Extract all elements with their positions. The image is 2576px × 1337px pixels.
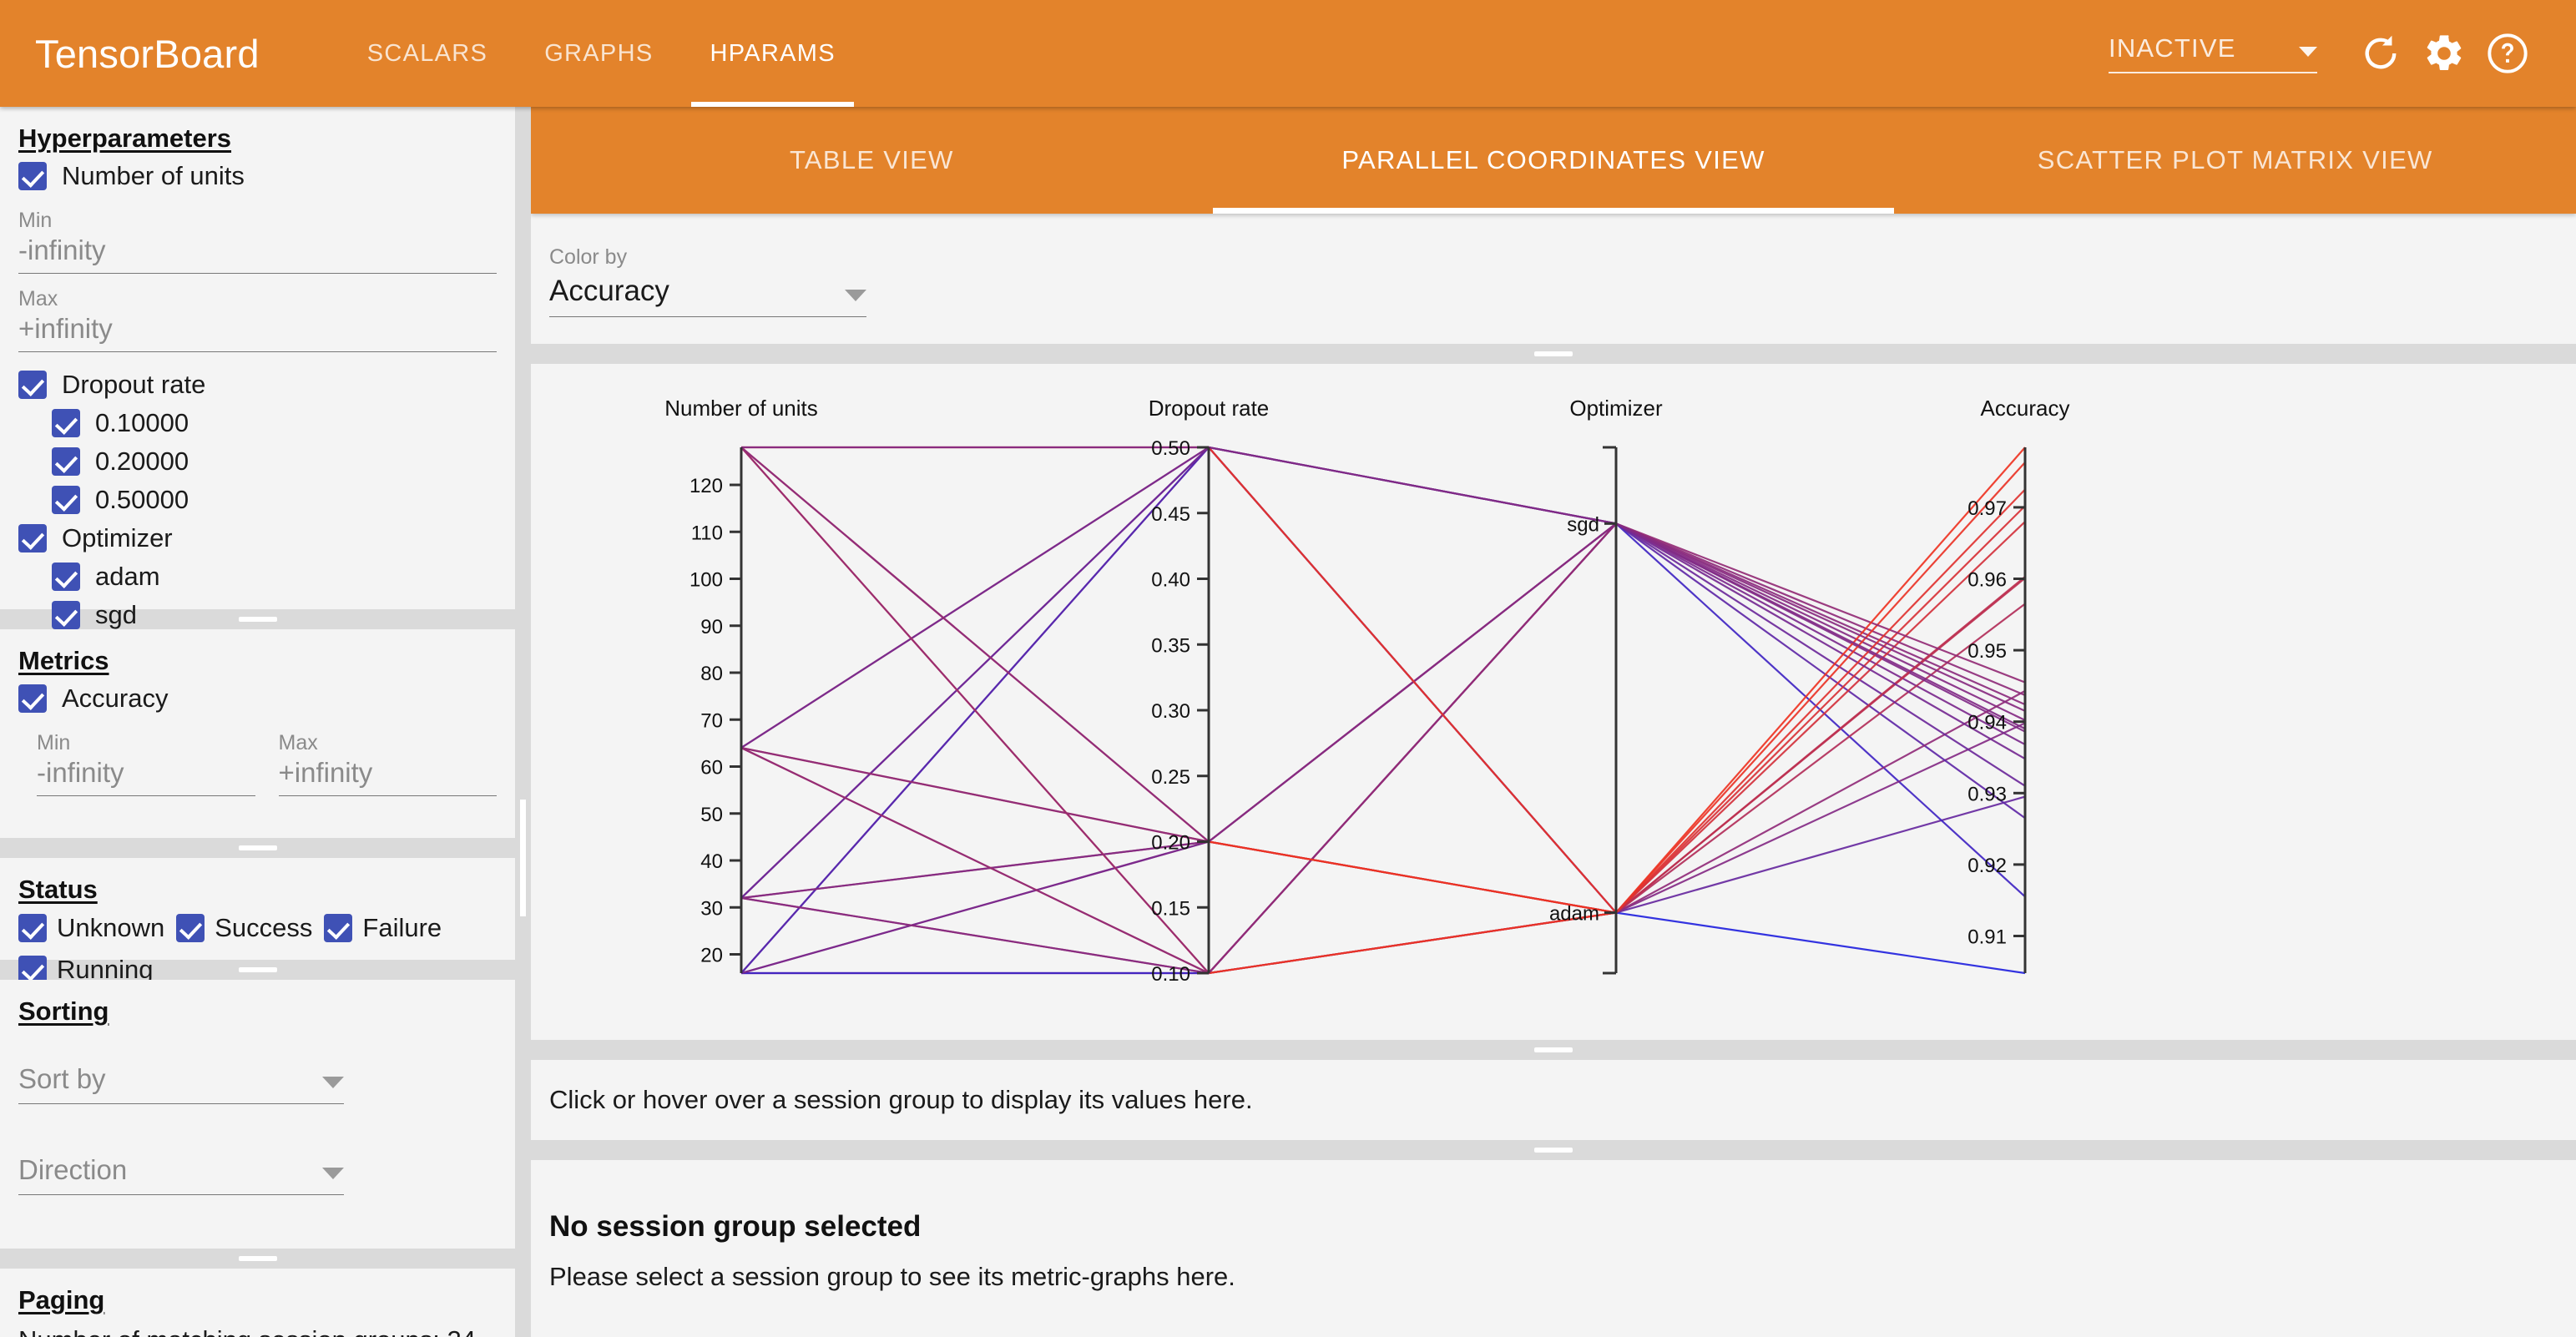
checkbox-checked-icon[interactable] — [52, 486, 80, 514]
view-tab-label: SCATTER PLOT MATRIX VIEW — [2038, 145, 2433, 175]
hyperparameters-card: Hyperparameters Number of units Min -inf… — [0, 107, 515, 609]
header-actions: INACTIVE — [2109, 22, 2576, 85]
checkbox-checked-icon[interactable] — [52, 601, 80, 629]
axis-tick-label: 120 — [689, 475, 723, 497]
accuracy-min-field[interactable]: Min -infinity — [37, 731, 255, 796]
axis-tick-label: 30 — [700, 897, 723, 920]
grip-bar — [239, 1256, 277, 1261]
checkbox-checked-icon[interactable] — [18, 524, 47, 552]
session-line[interactable] — [741, 603, 2025, 973]
grip-bar — [1534, 351, 1573, 356]
grip-bar — [1534, 1047, 1573, 1052]
view-tab-label: PARALLEL COORDINATES VIEW — [1341, 145, 1765, 175]
accuracy-max-input[interactable]: +infinity — [279, 757, 498, 796]
checkbox-checked-icon[interactable] — [52, 409, 80, 437]
dropout-value-010[interactable]: 0.10000 — [18, 404, 497, 442]
axis-tick-label: 0.93 — [1967, 783, 2007, 805]
axis-tick-label: 0.40 — [1151, 569, 1190, 592]
color-by-control: Color by Accuracy — [531, 214, 2576, 344]
checkbox-checked-icon[interactable] — [52, 563, 80, 591]
hparam-optimizer[interactable]: Optimizer — [18, 519, 497, 558]
sort-by-placeholder: Sort by — [18, 1063, 106, 1095]
optimizer-value-label: adam — [95, 562, 160, 592]
optimizer-value-adam[interactable]: adam — [18, 558, 497, 596]
axis-tick-label: 0.45 — [1151, 503, 1190, 526]
axis-tick-label: 70 — [700, 709, 723, 732]
axis-tick-label: 0.20 — [1151, 832, 1190, 855]
chevron-down-icon — [322, 1168, 344, 1179]
sorting-title: Sorting — [18, 980, 497, 1030]
axis-dropout-rate[interactable]: Dropout rate0.100.150.200.250.300.350.40… — [1149, 396, 1270, 986]
axis-tick-label: 0.95 — [1967, 640, 2007, 663]
panel-resize-handle[interactable] — [0, 838, 515, 858]
hover-hint-text: Click or hover over a session group to d… — [549, 1085, 2558, 1115]
units-min-label: Min — [18, 209, 497, 233]
nav-tab-label: SCALARS — [367, 40, 488, 68]
nav-tab-label: GRAPHS — [544, 40, 653, 68]
parallel-coordinates-chart[interactable]: Number of units2030405060708090100110120… — [531, 364, 2576, 1040]
session-line[interactable] — [741, 447, 2025, 973]
chevron-down-icon — [322, 1077, 344, 1088]
hparam-number-of-units[interactable]: Number of units — [18, 157, 497, 195]
axis-title: Accuracy — [1981, 396, 2070, 421]
axis-tick-label: 90 — [700, 616, 723, 638]
hparam-dropout-rate[interactable]: Dropout rate — [18, 366, 497, 404]
metrics-card: Metrics Accuracy Min -infinity Max +infi… — [0, 629, 515, 838]
grip-bar — [1534, 1148, 1573, 1153]
status-unknown[interactable]: Unknown — [18, 911, 164, 945]
hyperparameters-title: Hyperparameters — [18, 107, 497, 157]
parallel-coordinates-svg[interactable]: Number of units2030405060708090100110120… — [531, 364, 2576, 1040]
metric-accuracy[interactable]: Accuracy — [18, 679, 497, 718]
tab-table-view[interactable]: TABLE VIEW — [531, 107, 1213, 214]
tab-scatter-plot-matrix-view[interactable]: SCATTER PLOT MATRIX VIEW — [1894, 107, 2576, 214]
checkbox-checked-icon[interactable] — [52, 447, 80, 476]
direction-placeholder: Direction — [18, 1154, 127, 1186]
axis-tick-label: 0.25 — [1151, 766, 1190, 789]
session-lines-group — [741, 447, 2025, 973]
chevron-down-icon — [2299, 47, 2317, 57]
checkbox-checked-icon[interactable] — [324, 914, 352, 942]
metric-graphs-panel: No session group selected Please select … — [531, 1160, 2576, 1337]
view-tabs: TABLE VIEW PARALLEL COORDINATES VIEW SCA… — [531, 107, 2576, 214]
help-icon[interactable] — [2476, 22, 2539, 85]
checkbox-checked-icon[interactable] — [18, 162, 47, 190]
units-max-field[interactable]: Max +infinity — [18, 287, 497, 352]
optimizer-value-label: sgd — [95, 600, 137, 630]
units-max-input[interactable]: +infinity — [18, 313, 497, 352]
accuracy-min-label: Min — [37, 731, 255, 755]
nav-tab-graphs[interactable]: GRAPHS — [516, 0, 681, 107]
axis-tick-label: 0.50 — [1151, 437, 1190, 460]
axis-tick-label: 0.35 — [1151, 634, 1190, 657]
app-brand: TensorBoard — [35, 31, 260, 77]
session-line[interactable] — [741, 447, 2025, 729]
status-label: Success — [215, 913, 312, 943]
axis-tick-label: 20 — [700, 945, 723, 967]
metric-panel-body: Please select a session group to see its… — [549, 1262, 2558, 1292]
chevron-down-icon — [845, 290, 866, 301]
checkbox-checked-icon[interactable] — [18, 684, 47, 713]
nav-tab-scalars[interactable]: SCALARS — [339, 0, 517, 107]
axis-tick-label: 0.30 — [1151, 700, 1190, 723]
accuracy-min-input[interactable]: -infinity — [37, 757, 255, 796]
session-line[interactable] — [741, 447, 2025, 973]
accuracy-max-label: Max — [279, 731, 498, 755]
app-header: TensorBoard SCALARS GRAPHS HPARAMS INACT… — [0, 0, 2576, 107]
axis-title: Number of units — [664, 396, 818, 421]
axis-tick-label: 0.94 — [1967, 712, 2007, 734]
dropout-value-label: 0.20000 — [95, 447, 189, 477]
metrics-title: Metrics — [18, 629, 497, 679]
units-min-field[interactable]: Min -infinity — [18, 209, 497, 274]
sidebar-resize-track — [515, 107, 531, 1337]
hparam-label: Optimizer — [62, 523, 173, 553]
axis-tick-label: 80 — [700, 663, 723, 685]
dropout-value-label: 0.50000 — [95, 485, 189, 515]
accuracy-max-field[interactable]: Max +infinity — [279, 731, 498, 796]
axis-accuracy[interactable]: Accuracy0.910.920.930.940.950.960.97 — [1967, 396, 2069, 973]
filter-sidebar: Hyperparameters Number of units Min -inf… — [0, 107, 515, 1337]
axis-tick-label: 0.96 — [1967, 569, 2007, 592]
session-line[interactable] — [741, 523, 2025, 841]
status-checkbox-group: Unknown Success Failure Running — [18, 908, 497, 990]
metric-range-row: Min -infinity Max +infinity — [18, 731, 497, 796]
axis-tick-label: adam — [1549, 903, 1599, 926]
gear-icon[interactable] — [2412, 22, 2476, 85]
nav-tab-label: HPARAMS — [710, 40, 835, 68]
refresh-icon[interactable] — [2349, 22, 2412, 85]
axis-tick-label: 100 — [689, 569, 723, 592]
checkbox-checked-icon[interactable] — [18, 914, 47, 942]
status-title: Status — [18, 858, 497, 908]
direction-control[interactable]: Direction — [18, 1154, 344, 1195]
color-by-value: Accuracy — [549, 275, 669, 308]
hparam-label: Number of units — [62, 161, 245, 191]
run-selector[interactable]: INACTIVE — [2109, 33, 2317, 73]
main-content: TABLE VIEW PARALLEL COORDINATES VIEW SCA… — [531, 107, 2576, 1337]
chart-panel-resize-handle[interactable] — [531, 344, 2576, 364]
view-tab-label: TABLE VIEW — [790, 145, 954, 175]
grip-bar — [239, 845, 277, 850]
sidebar-resize-handle[interactable] — [515, 107, 531, 1337]
axis-tick-label: sgd — [1567, 513, 1599, 536]
session-line[interactable] — [741, 447, 2025, 973]
metric-panel-resize-handle[interactable] — [531, 1140, 2576, 1160]
axis-number-of-units[interactable]: Number of units2030405060708090100110120 — [664, 396, 818, 973]
axis-title: Dropout rate — [1149, 396, 1270, 421]
axis-tick-label: 0.91 — [1967, 926, 2007, 948]
axis-tick-label: 0.92 — [1967, 855, 2007, 877]
metric-panel-title: No session group selected — [549, 1210, 2558, 1244]
status-label: Failure — [362, 913, 442, 943]
status-card: Status Unknown Success Failure Running — [0, 858, 515, 960]
primary-nav: SCALARS GRAPHS HPARAMS — [339, 0, 864, 107]
color-by-select[interactable]: Accuracy — [549, 275, 866, 317]
sort-by-control[interactable]: Sort by — [18, 1063, 344, 1104]
status-label: Unknown — [57, 913, 164, 943]
paging-card: Paging Number of matching session groups… — [0, 1269, 515, 1337]
nav-tab-hparams[interactable]: HPARAMS — [681, 0, 863, 107]
axis-tick-label: 50 — [700, 804, 723, 826]
units-max-label: Max — [18, 287, 497, 311]
status-success[interactable]: Success — [176, 911, 312, 945]
hover-panel-resize-handle[interactable] — [531, 1040, 2576, 1060]
dropout-value-label: 0.10000 — [95, 408, 189, 438]
metric-label: Accuracy — [62, 684, 168, 714]
axis-tick-label: 0.97 — [1967, 497, 2007, 520]
units-min-input[interactable]: -infinity — [18, 235, 497, 274]
session-values-panel: Click or hover over a session group to d… — [531, 1060, 2576, 1140]
axis-tick-label: 40 — [700, 850, 723, 873]
axis-title: Optimizer — [1569, 396, 1663, 421]
dropout-value-050[interactable]: 0.50000 — [18, 481, 497, 519]
axis-tick-label: 0.10 — [1151, 963, 1190, 986]
paging-title: Paging — [18, 1269, 497, 1319]
axis-optimizer[interactable]: Optimizeradamsgd — [1549, 396, 1663, 973]
session-line[interactable] — [741, 447, 2025, 842]
axis-tick-label: 0.15 — [1151, 897, 1190, 920]
sort-by-select[interactable]: Sort by — [18, 1063, 344, 1104]
session-line[interactable] — [741, 523, 2025, 898]
checkbox-checked-icon[interactable] — [176, 914, 205, 942]
axis-tick-label: 110 — [691, 522, 723, 544]
sorting-card: Sorting Sort by Direction — [0, 980, 515, 1249]
checkbox-checked-icon[interactable] — [18, 371, 47, 399]
panel-resize-handle[interactable] — [0, 1249, 515, 1269]
dropout-value-020[interactable]: 0.20000 — [18, 442, 497, 481]
matching-session-groups-count: Number of matching session groups: 24 — [18, 1319, 497, 1337]
session-line[interactable] — [741, 522, 2025, 973]
hparam-label: Dropout rate — [62, 370, 205, 400]
direction-select[interactable]: Direction — [18, 1154, 344, 1195]
status-failure[interactable]: Failure — [324, 911, 442, 945]
axis-tick-label: 60 — [700, 757, 723, 779]
run-selector-value: INACTIVE — [2109, 33, 2281, 63]
session-line[interactable] — [741, 447, 2025, 973]
color-by-label: Color by — [549, 245, 2576, 270]
session-line[interactable] — [741, 723, 2025, 973]
session-line[interactable] — [741, 447, 2025, 898]
tab-parallel-coordinates-view[interactable]: PARALLEL COORDINATES VIEW — [1213, 107, 1895, 214]
sidebar-resize-grip[interactable] — [520, 800, 526, 916]
